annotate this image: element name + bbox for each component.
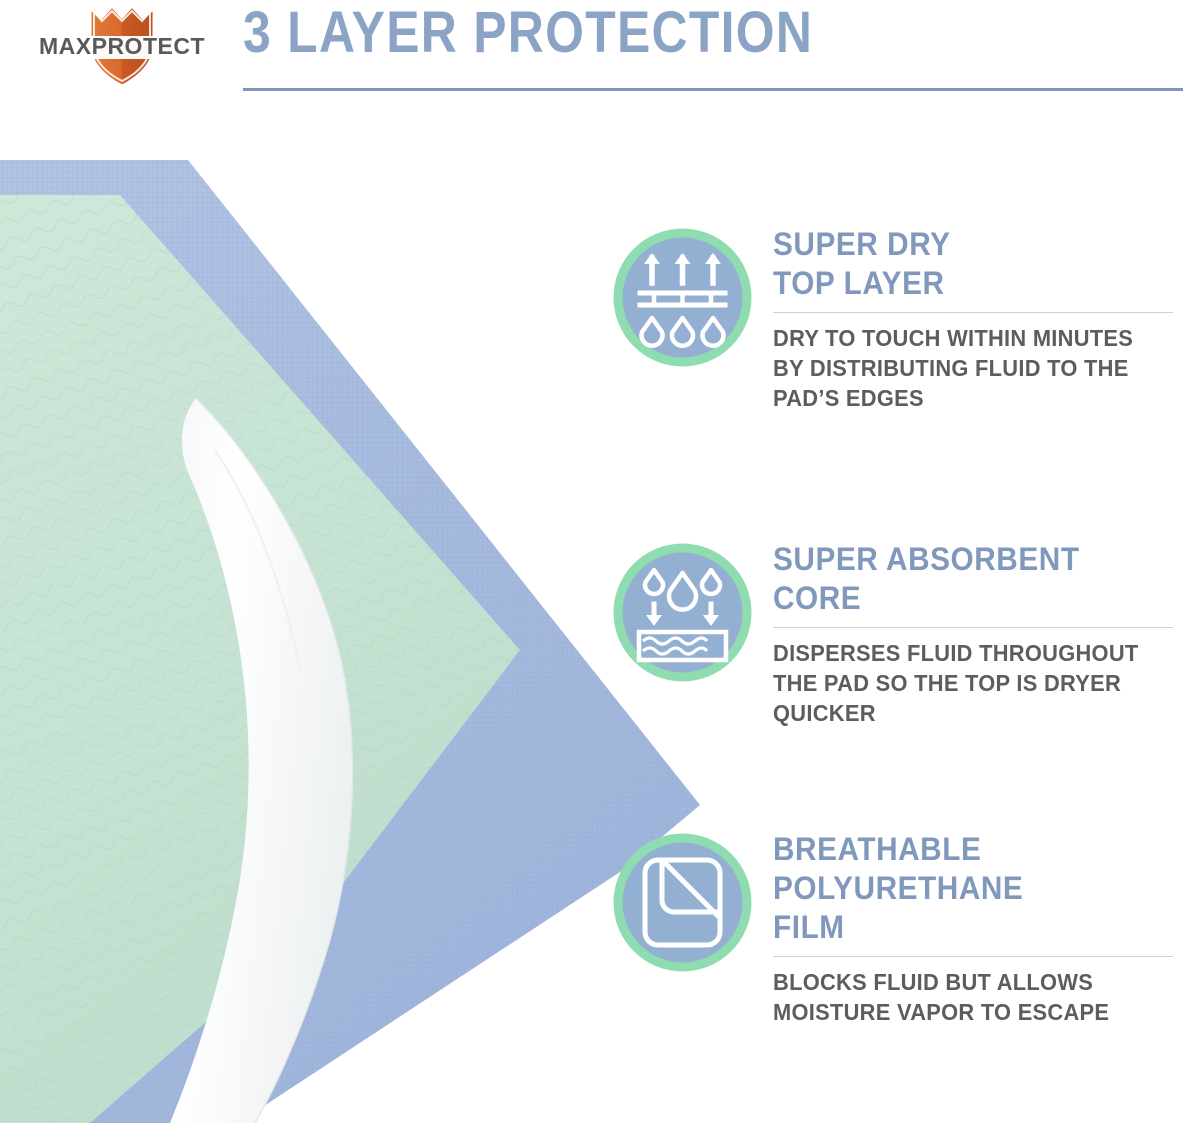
feature-heading: SUPER DRY TOP LAYER: [773, 225, 1154, 303]
feature-text: SUPER DRY TOP LAYER DRY TO TOUCH WITHIN …: [773, 225, 1183, 413]
maxprotect-logo: MAXPROTECT: [30, 2, 215, 90]
absorbent-core-icon: [610, 540, 755, 685]
feature-text: SUPER ABSORBENT CORE DISPERSES FLUID THR…: [773, 540, 1183, 728]
feature-heading: SUPER ABSORBENT CORE: [773, 540, 1154, 618]
infographic-page: MAXPROTECT 3 LAYER PROTECTION: [0, 0, 1200, 1123]
feature-heading: BREATHABLE POLYURETHANE FILM: [773, 830, 1154, 947]
feature-body: BLOCKS FLUID BUT ALLOWS MOISTURE VAPOR T…: [773, 967, 1163, 1027]
feature-divider: [773, 627, 1173, 628]
page-title: 3 LAYER PROTECTION: [243, 0, 813, 68]
feature-body: DISPERSES FLUID THROUGHOUT THE PAD SO TH…: [773, 638, 1163, 728]
feature-divider: [773, 312, 1173, 313]
product-photo: [0, 150, 700, 1123]
header: MAXPROTECT 3 LAYER PROTECTION: [0, 0, 1200, 105]
brand-name: MAXPROTECT: [39, 33, 205, 59]
feature-text: BREATHABLE POLYURETHANE FILM BLOCKS FLUI…: [773, 830, 1183, 1027]
dry-top-layer-icon: [610, 225, 755, 370]
breathable-film-icon: [610, 830, 755, 975]
feature-body: DRY TO TOUCH WITHIN MINUTES BY DISTRIBUT…: [773, 323, 1163, 413]
feature-divider: [773, 956, 1173, 957]
header-divider: [243, 88, 1183, 91]
